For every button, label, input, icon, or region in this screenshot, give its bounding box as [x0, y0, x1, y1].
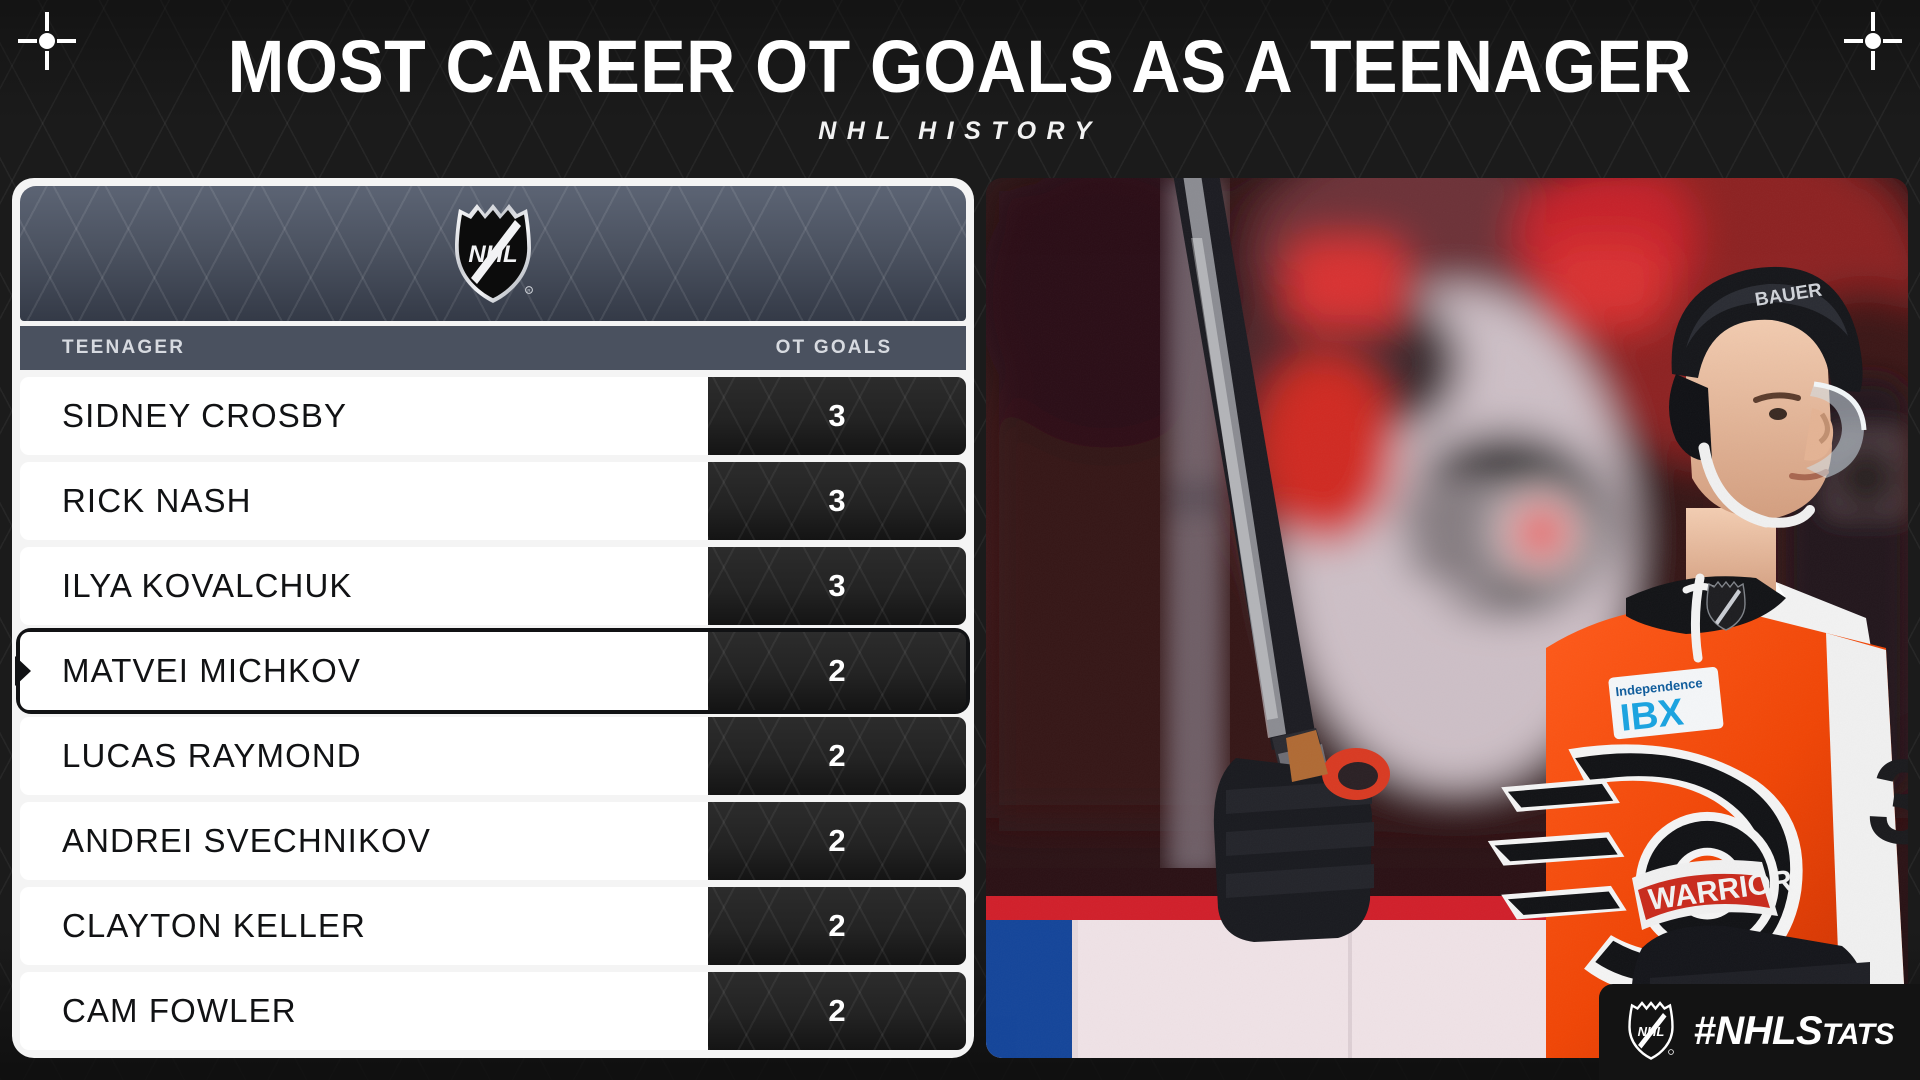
table-row[interactable]: LUCAS RAYMOND2 [20, 717, 966, 795]
faceoff-dot-registration-mark [1844, 12, 1902, 70]
table-row[interactable]: ILYA KOVALCHUK3 [20, 547, 966, 625]
row-player-name: MATVEI MICHKOV [20, 632, 708, 710]
page-subtitle: NHL HISTORY [818, 117, 1102, 146]
row-value: 2 [708, 802, 966, 880]
mark-line-top [1871, 12, 1875, 31]
registered-r: R [527, 288, 530, 293]
badge-hashtag-main: #NHLS [1693, 1009, 1822, 1053]
nhl-stats-badge: NHL #NHLSTATS [1599, 984, 1920, 1080]
row-player-name: ILYA KOVALCHUK [20, 547, 708, 625]
mark-line-right [57, 39, 76, 43]
table-row[interactable]: RICK NASH3 [20, 462, 966, 540]
column-header-value: OT GOALS [708, 337, 966, 359]
row-player-name: LUCAS RAYMOND [20, 717, 708, 795]
column-header-name: TEENAGER [20, 337, 708, 359]
row-value: 3 [708, 377, 966, 455]
row-value: 3 [708, 462, 966, 540]
graphic-header: MOST CAREER OT GOALS AS A TEENAGER NHL H… [0, 0, 1920, 160]
row-value: 2 [708, 632, 966, 710]
player-photo: 39 Independence IBX [986, 178, 1908, 1058]
row-value: 2 [708, 972, 966, 1050]
mark-line-left [1844, 39, 1863, 43]
table-row[interactable]: SIDNEY CROSBY3 [20, 377, 966, 455]
badge-shield-wordmark: NHL [1638, 1024, 1665, 1039]
row-player-name: ANDREI SVECHNIKOV [20, 802, 708, 880]
table-row[interactable]: MATVEI MICHKOV2 [20, 632, 966, 710]
row-value: 3 [708, 547, 966, 625]
mark-line-right [1883, 39, 1902, 43]
row-player-name: SIDNEY CROSBY [20, 377, 708, 455]
player-photo-illustration: 39 Independence IBX [986, 178, 1908, 1058]
shield-wordmark: NHL [468, 241, 517, 268]
mark-line-bottom [45, 51, 49, 70]
stats-table-panel: NHL R TEENAGER OT GOALS SIDNEY CROSBY3RI… [12, 178, 974, 1058]
row-value: 2 [708, 717, 966, 795]
page-title: MOST CAREER OT GOALS AS A TEENAGER [228, 30, 1692, 104]
badge-hashtag-small: TATS [1822, 1018, 1894, 1051]
table-row[interactable]: CAM FOWLER2 [20, 972, 966, 1050]
row-highlight-pointer-icon [15, 656, 31, 686]
table-column-header: TEENAGER OT GOALS [20, 326, 966, 370]
table-rows: SIDNEY CROSBY3RICK NASH3ILYA KOVALCHUK3M… [12, 370, 974, 1058]
league-logo-band: NHL R [20, 186, 966, 321]
nhl-shield-logo: NHL R [447, 200, 539, 308]
faceoff-dot-registration-mark [18, 12, 76, 70]
nhl-shield-outline-icon: NHL [1625, 1000, 1677, 1062]
photo-grain [986, 178, 1908, 1058]
row-value: 2 [708, 887, 966, 965]
badge-hashtag: #NHLSTATS [1693, 1009, 1894, 1054]
table-row[interactable]: CLAYTON KELLER2 [20, 887, 966, 965]
mark-line-bottom [1871, 51, 1875, 70]
row-player-name: CLAYTON KELLER [20, 887, 708, 965]
mark-line-left [18, 39, 37, 43]
row-player-name: RICK NASH [20, 462, 708, 540]
mark-center-dot [1865, 33, 1881, 49]
mark-center-dot [39, 33, 55, 49]
row-player-name: CAM FOWLER [20, 972, 708, 1050]
mark-line-top [45, 12, 49, 31]
table-row[interactable]: ANDREI SVECHNIKOV2 [20, 802, 966, 880]
